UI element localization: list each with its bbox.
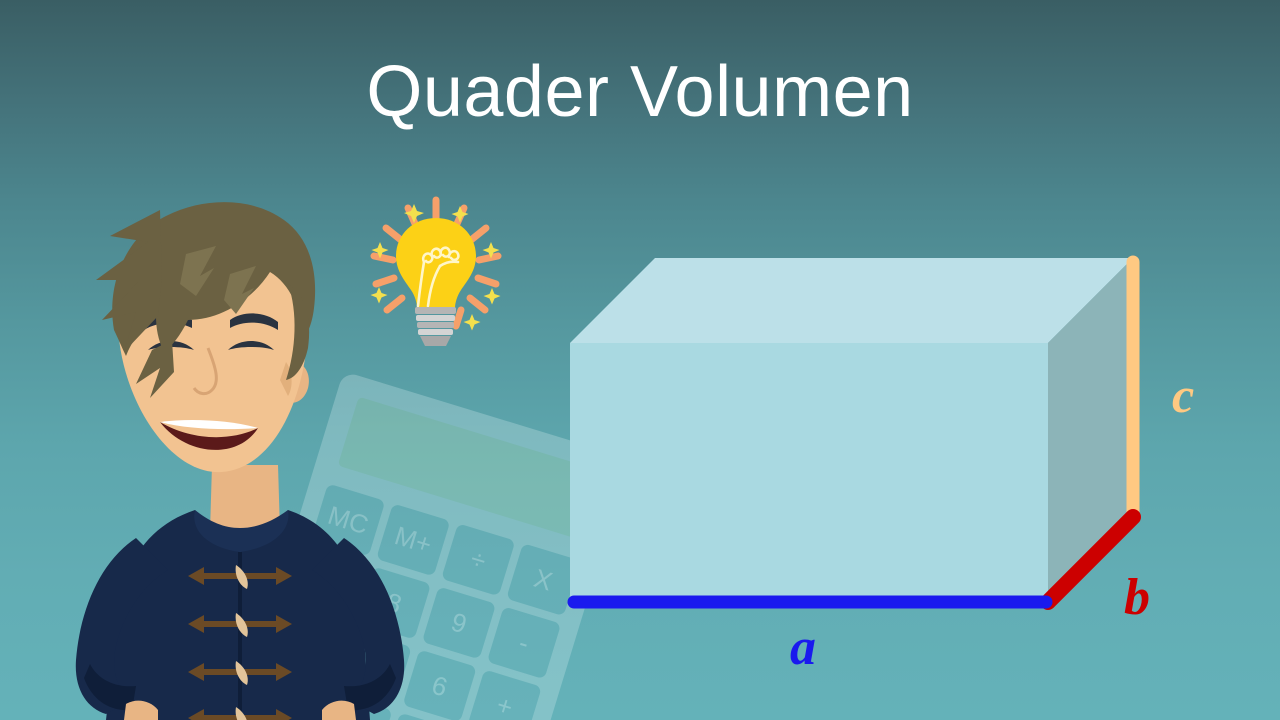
cuboid-front-face [570,343,1048,602]
avatar-head [96,202,315,472]
calculator-key: + [468,669,542,720]
presenter-avatar [40,180,440,720]
edge-label-b: b [1124,572,1150,624]
cuboid-volume-diagram [540,235,1220,655]
cuboid-top-face [570,258,1133,343]
edge-label-a: a [790,622,816,674]
edge-label-c: c [1172,370,1194,420]
slide-canvas: MC M+ ÷ X 7 8 9 - 4 5 6 + 1 2 3 = Quader… [0,0,1280,720]
page-title: Quader Volumen [0,56,1280,128]
avatar-coat [76,510,404,720]
